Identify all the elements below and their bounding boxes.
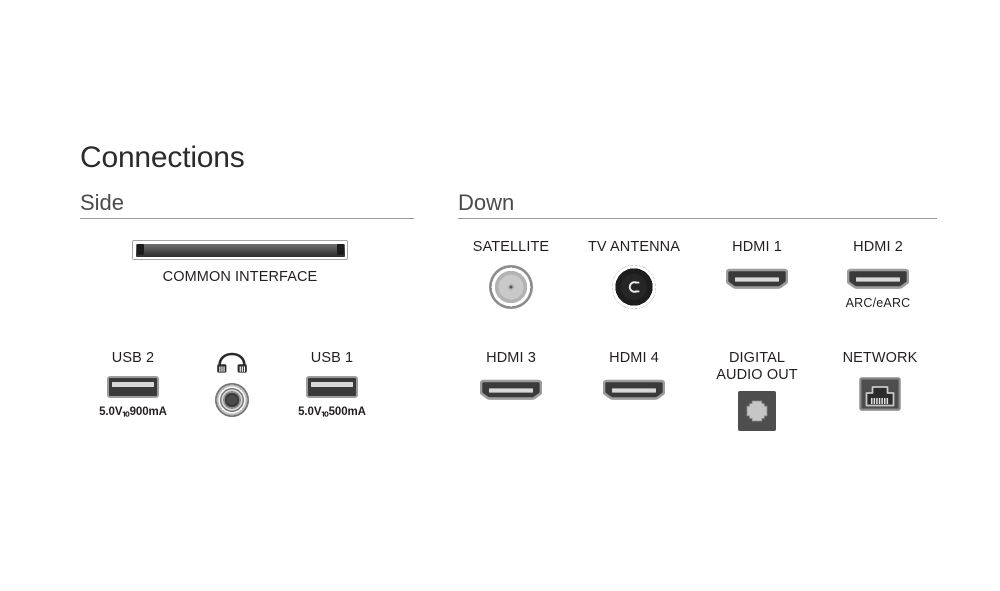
port-sublabel-hdmi-2-arc: ARC/eARC — [823, 296, 933, 310]
port-network: NETWORK — [820, 350, 940, 411]
hdmi-4-art — [579, 377, 689, 403]
port-label-hdmi-1: HDMI 1 — [702, 239, 812, 256]
hdmi-2-art — [823, 266, 933, 292]
port-hdmi-2: HDMI 2 ARC/eARC — [823, 239, 933, 310]
common-interface-art — [80, 240, 400, 260]
port-hdmi-1: HDMI 1 — [702, 239, 812, 292]
port-usb-2: USB 2 5.0V⏨900mA — [80, 350, 186, 419]
antenna-keyway-icon — [628, 281, 641, 294]
port-label-hdmi-3: HDMI 3 — [456, 350, 566, 367]
usb-a-port-icon — [107, 376, 159, 398]
port-label-tv-antenna: TV ANTENNA — [564, 239, 704, 256]
toslink-shutter-icon — [744, 398, 770, 424]
connections-diagram: Connections Side COMMON INTERFACE USB 2 … — [0, 0, 1000, 591]
port-rating-usb-2: 5.0V⏨900mA — [80, 405, 186, 419]
section-side-title: Side — [80, 190, 414, 216]
hdmi-3-art — [456, 377, 566, 403]
headphone-icon — [215, 352, 249, 374]
section-down-rule — [458, 218, 937, 219]
hdmi-port-icon — [847, 266, 909, 292]
port-label-digital-audio-out-line1: DIGITAL — [697, 350, 817, 367]
digital-audio-out-art — [697, 391, 817, 431]
section-side: Side — [80, 190, 414, 219]
hdmi-port-icon — [603, 377, 665, 403]
page-title: Connections — [80, 141, 245, 175]
hdmi-port-icon — [726, 266, 788, 292]
usb-contact-bar — [112, 382, 154, 387]
network-art — [820, 377, 940, 411]
port-label-network: NETWORK — [820, 350, 940, 367]
port-hdmi-4: HDMI 4 — [579, 350, 689, 403]
usb-a-port-icon — [306, 376, 358, 398]
port-label-common-interface: COMMON INTERFACE — [80, 269, 400, 286]
port-hdmi-3: HDMI 3 — [456, 350, 566, 403]
port-label-hdmi-4: HDMI 4 — [579, 350, 689, 367]
usb-2-art — [80, 376, 186, 398]
tv-antenna-art — [564, 265, 704, 309]
port-label-digital-audio-out-line2: AUDIO OUT — [697, 367, 817, 384]
port-label-hdmi-2: HDMI 2 — [823, 239, 933, 256]
port-digital-audio-out: DIGITAL AUDIO OUT — [697, 350, 817, 431]
hdmi-port-icon — [480, 377, 542, 403]
section-side-rule — [80, 218, 414, 219]
common-interface-slot-inner — [136, 244, 345, 257]
satellite-art — [451, 265, 571, 309]
port-label-usb-1: USB 1 — [279, 350, 385, 367]
common-interface-notch-right — [337, 244, 344, 255]
usb-contact-bar — [311, 382, 353, 387]
port-rating-usb-1: 5.0V⏨500mA — [279, 405, 385, 419]
port-label-usb-2: USB 2 — [80, 350, 186, 367]
coax-antenna-connector-icon — [612, 265, 656, 309]
port-tv-antenna: TV ANTENNA — [564, 239, 704, 309]
common-interface-slot-icon — [132, 240, 348, 260]
headphone-jack-art — [196, 383, 268, 417]
section-down: Down — [458, 190, 937, 219]
hdmi-1-art — [702, 266, 812, 292]
section-down-title: Down — [458, 190, 937, 216]
optical-toslink-port-icon — [738, 391, 776, 431]
usb-1-art — [279, 376, 385, 398]
headphone-jack-icon — [215, 383, 249, 417]
port-usb-1: USB 1 5.0V⏨500mA — [279, 350, 385, 419]
port-label-satellite: SATELLITE — [451, 239, 571, 256]
headphone-symbol — [196, 350, 268, 376]
port-satellite: SATELLITE — [451, 239, 571, 309]
coax-f-connector-icon — [489, 265, 533, 309]
common-interface-notch-left — [137, 244, 144, 255]
port-common-interface: COMMON INTERFACE — [80, 240, 400, 286]
port-headphone — [196, 350, 268, 417]
rj45-ethernet-port-icon — [859, 377, 901, 411]
